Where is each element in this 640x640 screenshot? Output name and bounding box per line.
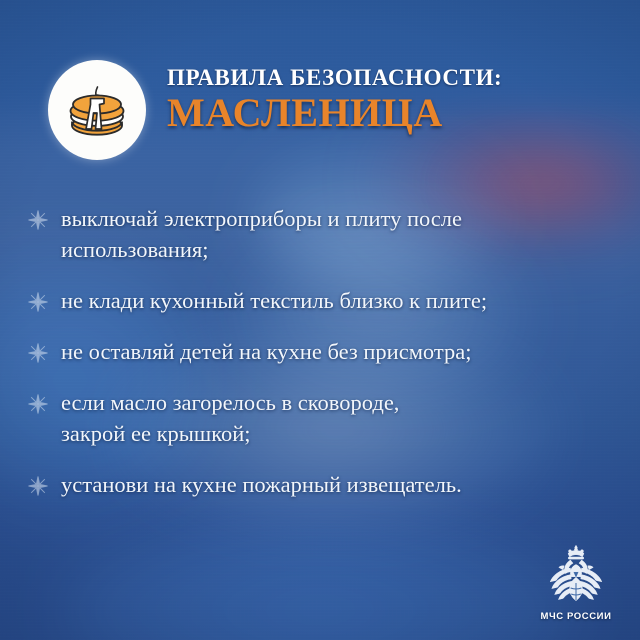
list-item-line: выключай электроприборы и плиту после — [61, 203, 621, 234]
list-item-text: не оставляй детей на кухне без присмотра… — [61, 336, 621, 367]
title-block: ПРАВИЛА БЕЗОПАСНОСТИ: МАСЛЕНИЦА — [167, 66, 502, 134]
list-item: если масло загорелось в сковороде, закро… — [0, 387, 640, 449]
list-item-line: использования; — [61, 234, 621, 265]
poster-header: ПРАВИЛА БЕЗОПАСНОСТИ: МАСЛЕНИЦА — [0, 52, 640, 164]
pancake-stack-icon — [60, 73, 134, 147]
list-item-line: не оставляй детей на кухне без присмотра… — [61, 336, 621, 367]
rules-list: выключай электроприборы и плиту после ис… — [0, 203, 640, 520]
list-item-text: если масло загорелось в сковороде, закро… — [61, 387, 621, 449]
list-item-text: не клади кухонный текстиль близко к плит… — [61, 285, 621, 316]
logo-badge — [48, 60, 146, 160]
mchs-double-headed-eagle-icon — [530, 543, 622, 609]
snowflake-bullet-icon — [27, 291, 49, 313]
snowflake-bullet-icon — [27, 342, 49, 364]
snowflake-bullet-icon — [27, 209, 49, 231]
list-item-line: если масло загорелось в сковороде, — [61, 387, 621, 418]
safety-poster: ПРАВИЛА БЕЗОПАСНОСТИ: МАСЛЕНИЦА — [0, 0, 640, 640]
snowflake-bullet-icon — [27, 393, 49, 415]
list-item-text: установи на кухне пожарный извещатель. — [61, 469, 621, 500]
list-item: выключай электроприборы и плиту после ис… — [0, 203, 640, 265]
list-item-text: выключай электроприборы и плиту после ис… — [61, 203, 621, 265]
mchs-emblem: МЧС РОССИИ — [530, 543, 622, 622]
list-item: установи на кухне пожарный извещатель. — [0, 469, 640, 500]
poster-subtitle: ПРАВИЛА БЕЗОПАСНОСТИ: — [167, 66, 502, 90]
list-item-line: не клади кухонный текстиль близко к плит… — [61, 285, 621, 316]
page-title: МАСЛЕНИЦА — [167, 92, 502, 134]
emblem-caption: МЧС РОССИИ — [530, 611, 622, 622]
snowflake-bullet-icon — [27, 475, 49, 497]
list-item: не клади кухонный текстиль близко к плит… — [0, 285, 640, 316]
list-item: не оставляй детей на кухне без присмотра… — [0, 336, 640, 367]
list-item-line: закрой ее крышкой; — [61, 418, 621, 449]
list-item-line: установи на кухне пожарный извещатель. — [61, 469, 621, 500]
